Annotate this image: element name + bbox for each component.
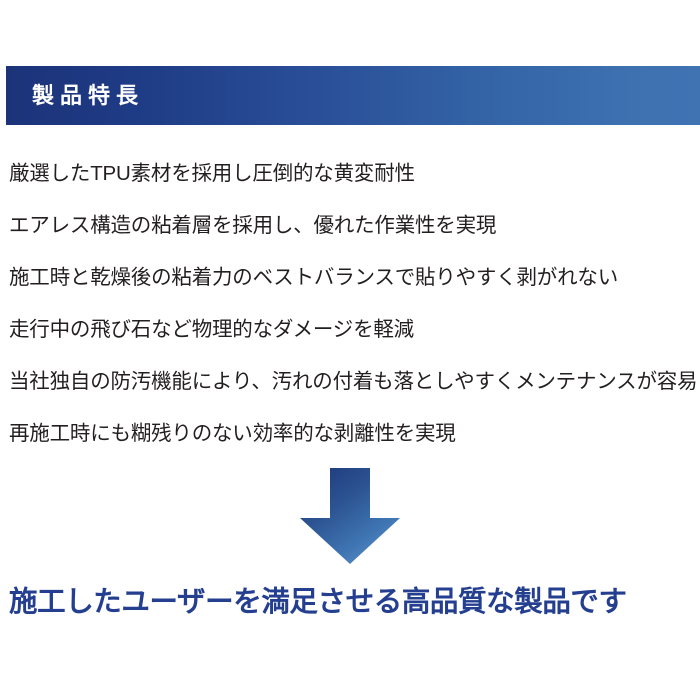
feature-list: 厳選したTPU素材を採用し圧倒的な黄変耐性 エアレス構造の粘着層を採用し、優れた… (0, 148, 700, 460)
arrow-container (0, 466, 700, 571)
tagline-text: 施工したユーザーを満足させる高品質な製品です (9, 587, 627, 618)
product-features-panel: 製品特長 厳選したTPU素材を採用し圧倒的な黄変耐性 エアレス構造の粘着層を採用… (0, 0, 700, 700)
page-title: 製品特長 (6, 85, 144, 107)
arrow-down-icon (297, 466, 403, 566)
list-item: 施工時と乾燥後の粘着力のベストバランスで貼りやすく剥がれない (0, 252, 700, 304)
list-item: 走行中の飛び石など物理的なダメージを軽減 (0, 304, 700, 356)
tagline-container: 施工したユーザーを満足させる高品質な製品です (0, 578, 700, 628)
list-item: 再施工時にも糊残りのない効率的な剥離性を実現 (0, 408, 700, 460)
list-item: 当社独自の防汚機能により、汚れの付着も落としやすくメンテナンスが容易 (0, 356, 700, 408)
section-header-band: 製品特長 (6, 66, 700, 125)
list-item: 厳選したTPU素材を採用し圧倒的な黄変耐性 (0, 148, 700, 200)
list-item: エアレス構造の粘着層を採用し、優れた作業性を実現 (0, 200, 700, 252)
